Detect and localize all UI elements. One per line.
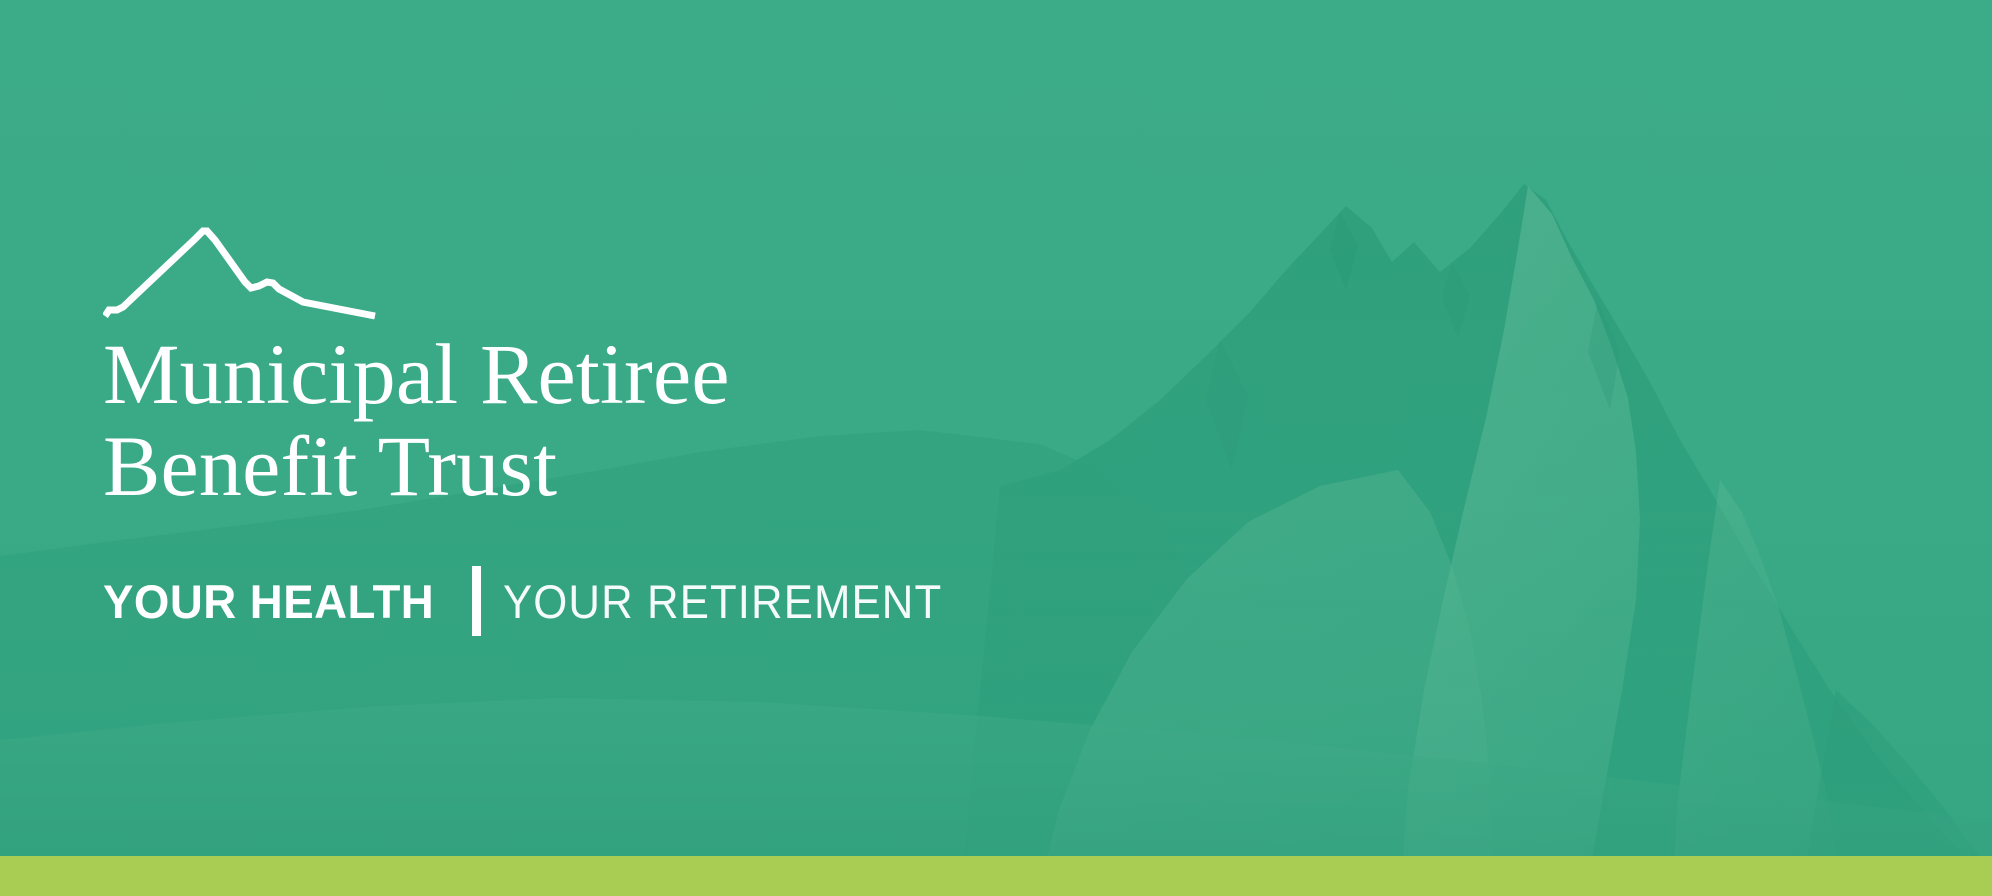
brand-lockup: Municipal Retiree Benefit Trust YOUR HEA… bbox=[103, 214, 1103, 636]
brand-tagline: YOUR HEALTH YOUR RETIREMENT bbox=[103, 566, 1103, 636]
tagline-primary: YOUR HEALTH bbox=[103, 574, 434, 629]
mountain-peak-outline-icon bbox=[103, 214, 381, 320]
site-banner: Municipal Retiree Benefit Trust YOUR HEA… bbox=[0, 0, 1992, 896]
tagline-divider bbox=[472, 566, 481, 636]
page-title: Municipal Retiree Benefit Trust bbox=[103, 328, 1103, 512]
tagline-secondary: YOUR RETIREMENT bbox=[503, 574, 942, 629]
accent-bar bbox=[0, 856, 1992, 896]
